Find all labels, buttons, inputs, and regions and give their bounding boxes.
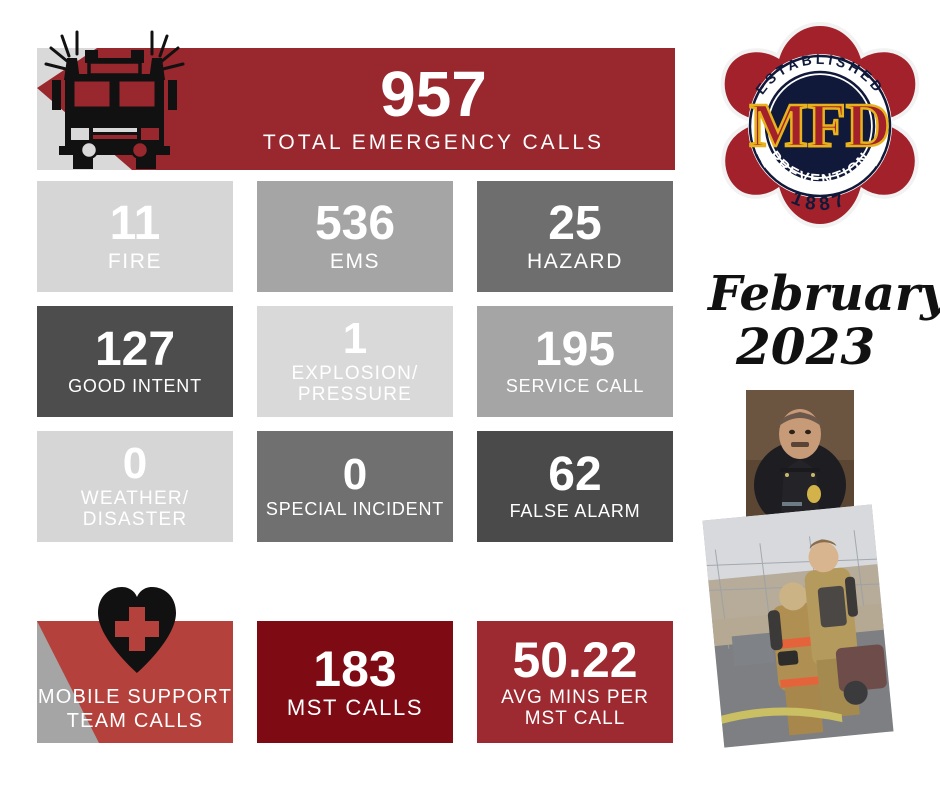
stat-label: SERVICE CALL <box>506 377 644 396</box>
firefighter-portrait-photo <box>746 390 854 526</box>
stat-value: 1 <box>343 317 367 361</box>
stat-value: 127 <box>95 326 175 374</box>
action-photo-svg <box>702 504 893 747</box>
mst-tile-mobile-support: MOBILE SUPPORT TEAM CALLS <box>37 621 233 743</box>
total-calls-text: 957 TOTAL EMERGENCY CALLS <box>192 48 675 170</box>
total-calls-label: TOTAL EMERGENCY CALLS <box>263 131 604 155</box>
stat-tile-ems: 536 EMS <box>257 181 453 292</box>
fire-truck-icon <box>37 28 192 170</box>
firefighters-action-photo <box>702 504 893 747</box>
stat-tiles-grid: 11 FIRE 536 EMS 25 HAZARD 127 GOOD INTEN… <box>37 181 675 556</box>
stat-label: FIRE <box>108 251 162 274</box>
stat-row-2: 127 GOOD INTENT 1 EXPLOSION/PRESSURE 195… <box>37 306 675 417</box>
stat-tile-fire: 11 FIRE <box>37 181 233 292</box>
stat-label: WEATHER/DISASTER <box>81 489 189 530</box>
stat-label: HAZARD <box>527 251 623 274</box>
stat-value: 195 <box>535 326 615 374</box>
total-calls-value: 957 <box>380 63 487 126</box>
stat-row-3: 0 WEATHER/DISASTER 0 SPECIAL INCIDENT 62… <box>37 431 675 542</box>
fire-truck-svg <box>37 28 192 170</box>
stat-value: 25 <box>548 200 601 248</box>
mst-tile1-label: MOBILE SUPPORT TEAM CALLS <box>37 685 233 733</box>
mst-avg-label: AVG MINS PER MST CALL <box>501 687 649 730</box>
mst-row: MOBILE SUPPORT TEAM CALLS 183 MST CALLS … <box>37 621 675 743</box>
stat-tile-hazard: 25 HAZARD <box>477 181 673 292</box>
month-line2: 2023 <box>735 317 875 376</box>
mst-avg-value: 50.22 <box>512 635 637 685</box>
mst-tile1-label-line2: TEAM CALLS <box>37 709 233 733</box>
stat-label: GOOD INTENT <box>68 377 202 396</box>
badge-monogram: MFD <box>749 92 890 160</box>
infographic-page: 957 TOTAL EMERGENCY CALLS <box>0 0 940 788</box>
month-heading: February 2023 <box>700 258 940 378</box>
portrait-svg <box>746 390 854 526</box>
stat-value: 0 <box>343 453 367 497</box>
mst-calls-label: MST CALLS <box>287 696 423 721</box>
heart-plus-icon <box>95 583 179 675</box>
stat-value: 11 <box>110 200 161 248</box>
month-line1: February <box>706 266 940 322</box>
stat-tile-weather-disaster: 0 WEATHER/DISASTER <box>37 431 233 542</box>
mst-tile-calls: 183 MST CALLS <box>257 621 453 743</box>
stat-tile-explosion-pressure: 1 EXPLOSION/PRESSURE <box>257 306 453 417</box>
mfd-badge-svg: FIRE PREVENTION RESCUE HAZMAT ESTABLISHE… <box>716 22 924 232</box>
stat-tile-service-call: 195 SERVICE CALL <box>477 306 673 417</box>
stat-label: SPECIAL INCIDENT <box>266 500 444 519</box>
mfd-badge: FIRE PREVENTION RESCUE HAZMAT ESTABLISHE… <box>716 22 924 237</box>
month-heading-svg: February 2023 <box>700 258 940 378</box>
stat-value: 536 <box>315 200 395 248</box>
mst-tile1-label-line1: MOBILE SUPPORT <box>37 685 233 709</box>
stat-tile-false-alarm: 62 FALSE ALARM <box>477 431 673 542</box>
stat-label: EXPLOSION/PRESSURE <box>291 364 418 405</box>
branding-column: FIRE PREVENTION RESCUE HAZMAT ESTABLISHE… <box>700 0 940 788</box>
stat-tile-good-intent: 127 GOOD INTENT <box>37 306 233 417</box>
stat-row-1: 11 FIRE 536 EMS 25 HAZARD <box>37 181 675 292</box>
mst-tile-avg-mins: 50.22 AVG MINS PER MST CALL <box>477 621 673 743</box>
stat-tile-special-incident: 0 SPECIAL INCIDENT <box>257 431 453 542</box>
mst-avg-label-line1: AVG MINS PER <box>501 687 649 708</box>
stat-value: 0 <box>123 442 147 486</box>
mst-avg-label-line2: MST CALL <box>501 708 649 729</box>
stat-label: EMS <box>330 251 380 274</box>
mst-calls-value: 183 <box>313 644 396 694</box>
stats-column: 957 TOTAL EMERGENCY CALLS <box>0 0 700 788</box>
stat-value: 62 <box>548 451 601 499</box>
stat-label: FALSE ALARM <box>510 502 641 521</box>
